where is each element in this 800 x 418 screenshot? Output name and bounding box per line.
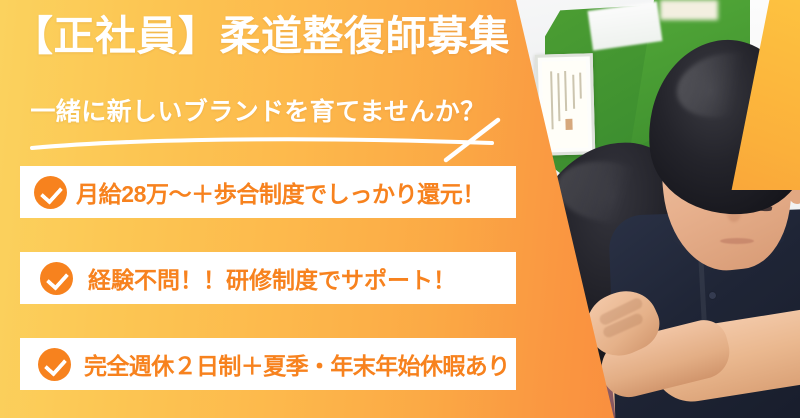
certificate-paper [542,60,588,148]
job-advert-banner: 【正社員】柔道整復師募集 一緒に新しいブランドを育てませんか？ 月給28万〜＋歩… [0,0,800,418]
list-item-label: 月給28万〜＋歩合制度でしっかり還元！ [76,175,485,209]
benefits-list: 月給28万〜＋歩合制度でしっかり還元！ 経験不問！！研修制度でサポート！ 完全週… [20,166,516,390]
certificate-seal [565,119,572,130]
handdrawn-underline-icon [22,118,522,164]
ceiling-light-strip-2 [660,0,718,20]
list-item: 経験不問！！研修制度でサポート！ [20,252,516,304]
check-circle-icon [34,176,67,209]
list-item: 完全週休２日制＋夏季・年末年始休暇あり [20,338,516,390]
check-circle-icon [40,262,73,295]
practitioner-mouth [720,238,754,244]
list-item-label: 完全週休２日制＋夏季・年末年始休暇あり [84,347,510,381]
list-item-label: 経験不問！！研修制度でサポート！ [88,261,456,295]
page-title: 【正社員】柔道整復師募集 [12,12,512,60]
list-item: 月給28万〜＋歩合制度でしっかり還元！ [20,166,516,218]
shirt-button [709,292,716,299]
subtitle-block: 一緒に新しいブランドを育てませんか？ [18,92,498,128]
check-circle-icon [38,348,71,381]
